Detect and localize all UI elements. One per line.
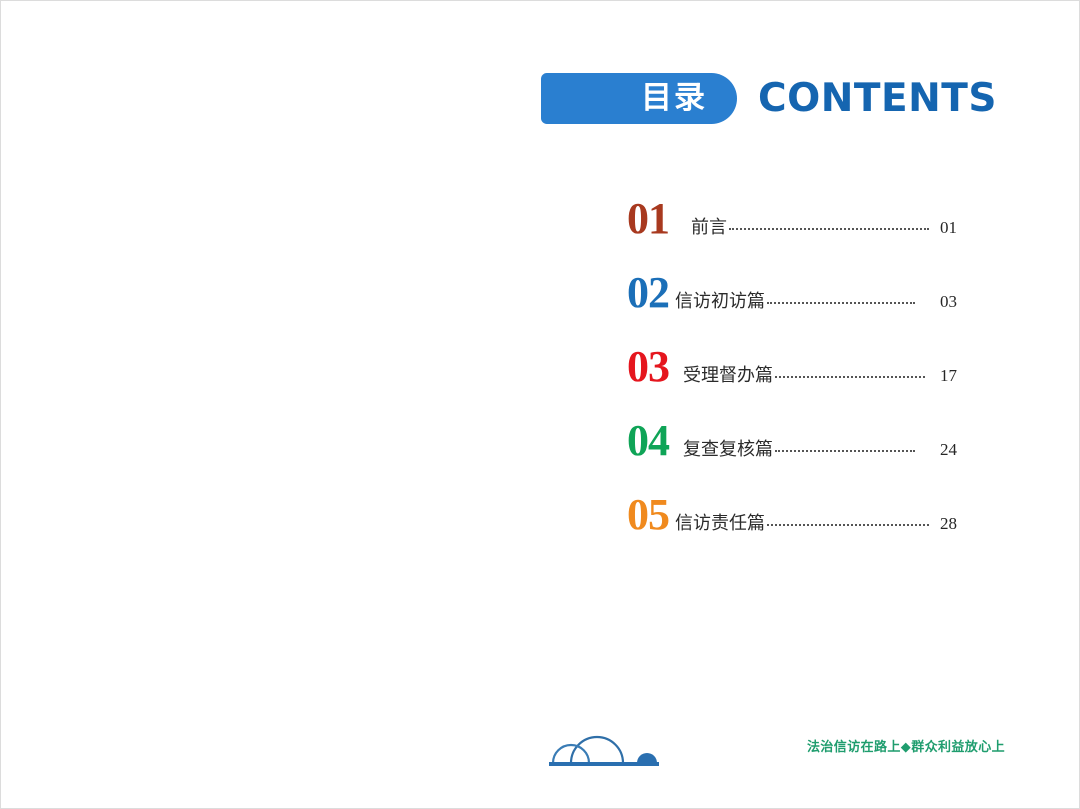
toc-page-number: 03: [917, 292, 957, 312]
toc-number: 05: [627, 493, 669, 537]
toc-entry-02[interactable]: 02 信访初访篇 03: [627, 271, 957, 345]
toc-number: 04: [627, 419, 669, 463]
page-footer: 法治信访在路上◆群众利益放心上: [1, 719, 1080, 779]
table-of-contents: 01 前言 01 02 信访初访篇 03 03 受理督办篇 17 04 复查复核…: [627, 197, 957, 567]
toc-number: 02: [627, 271, 669, 315]
contents-title-pill: 目录: [541, 73, 737, 124]
toc-leader-dots: [767, 301, 915, 304]
arch-dome-logo-icon: [541, 723, 665, 771]
toc-entry-01[interactable]: 01 前言 01: [627, 197, 957, 271]
toc-page-number: 28: [931, 514, 957, 534]
toc-title: 受理督办篇: [683, 361, 773, 387]
toc-title: 前言: [691, 213, 727, 239]
contents-title-en: CONTENTS: [758, 79, 997, 118]
toc-entry-05[interactable]: 05 信访责任篇 28: [627, 493, 957, 567]
toc-title: 复查复核篇: [683, 435, 773, 461]
toc-title: 信访初访篇: [675, 287, 765, 313]
toc-number: 01: [627, 197, 669, 241]
toc-leader-dots: [729, 227, 929, 230]
toc-title: 信访责任篇: [675, 509, 765, 535]
toc-page-number: 01: [931, 218, 957, 238]
toc-number: 03: [627, 345, 669, 389]
toc-leader-dots: [767, 523, 929, 526]
contents-title-cn: 目录: [641, 83, 707, 114]
toc-leader-dots: [775, 375, 925, 378]
toc-leader-dots: [775, 449, 915, 452]
toc-entry-04[interactable]: 04 复查复核篇 24: [627, 419, 957, 493]
footer-slogan: 法治信访在路上◆群众利益放心上: [807, 736, 1005, 755]
toc-entry-03[interactable]: 03 受理督办篇 17: [627, 345, 957, 419]
contents-header: 目录 CONTENTS: [541, 73, 997, 124]
toc-page-number: 24: [917, 440, 957, 460]
toc-page-number: 17: [927, 366, 957, 386]
document-page: 目录 CONTENTS 01 前言 01 02 信访初访篇 03 03 受理督办…: [0, 0, 1080, 809]
